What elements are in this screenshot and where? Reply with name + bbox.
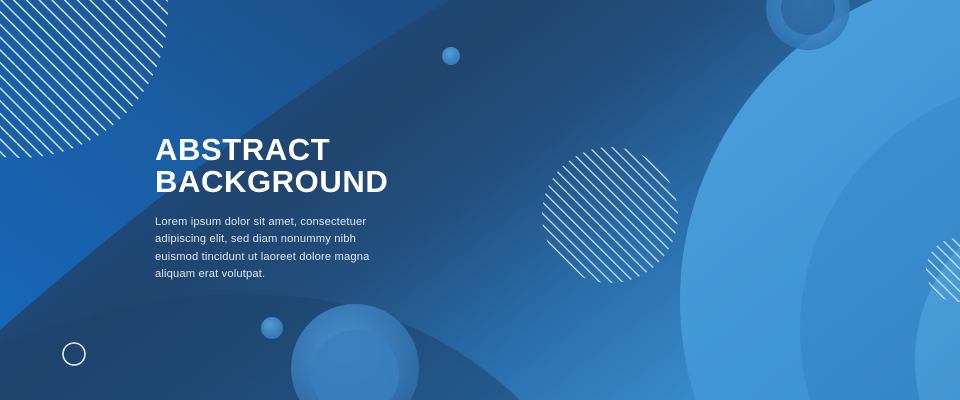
- body-paragraph: Lorem ipsum dolor sit amet, consectetuer…: [155, 214, 370, 283]
- top-center-dot: [442, 47, 460, 65]
- bottom-left-dot: [261, 317, 283, 339]
- page-title: ABSTRACT BACKGROUND: [155, 134, 485, 198]
- headline-line-2: BACKGROUND: [155, 166, 485, 198]
- hero-text-block: ABSTRACT BACKGROUND Lorem ipsum dolor si…: [155, 134, 485, 283]
- headline-line-1: ABSTRACT: [155, 132, 330, 167]
- abstract-background-banner: ABSTRACT BACKGROUND Lorem ipsum dolor si…: [0, 0, 960, 400]
